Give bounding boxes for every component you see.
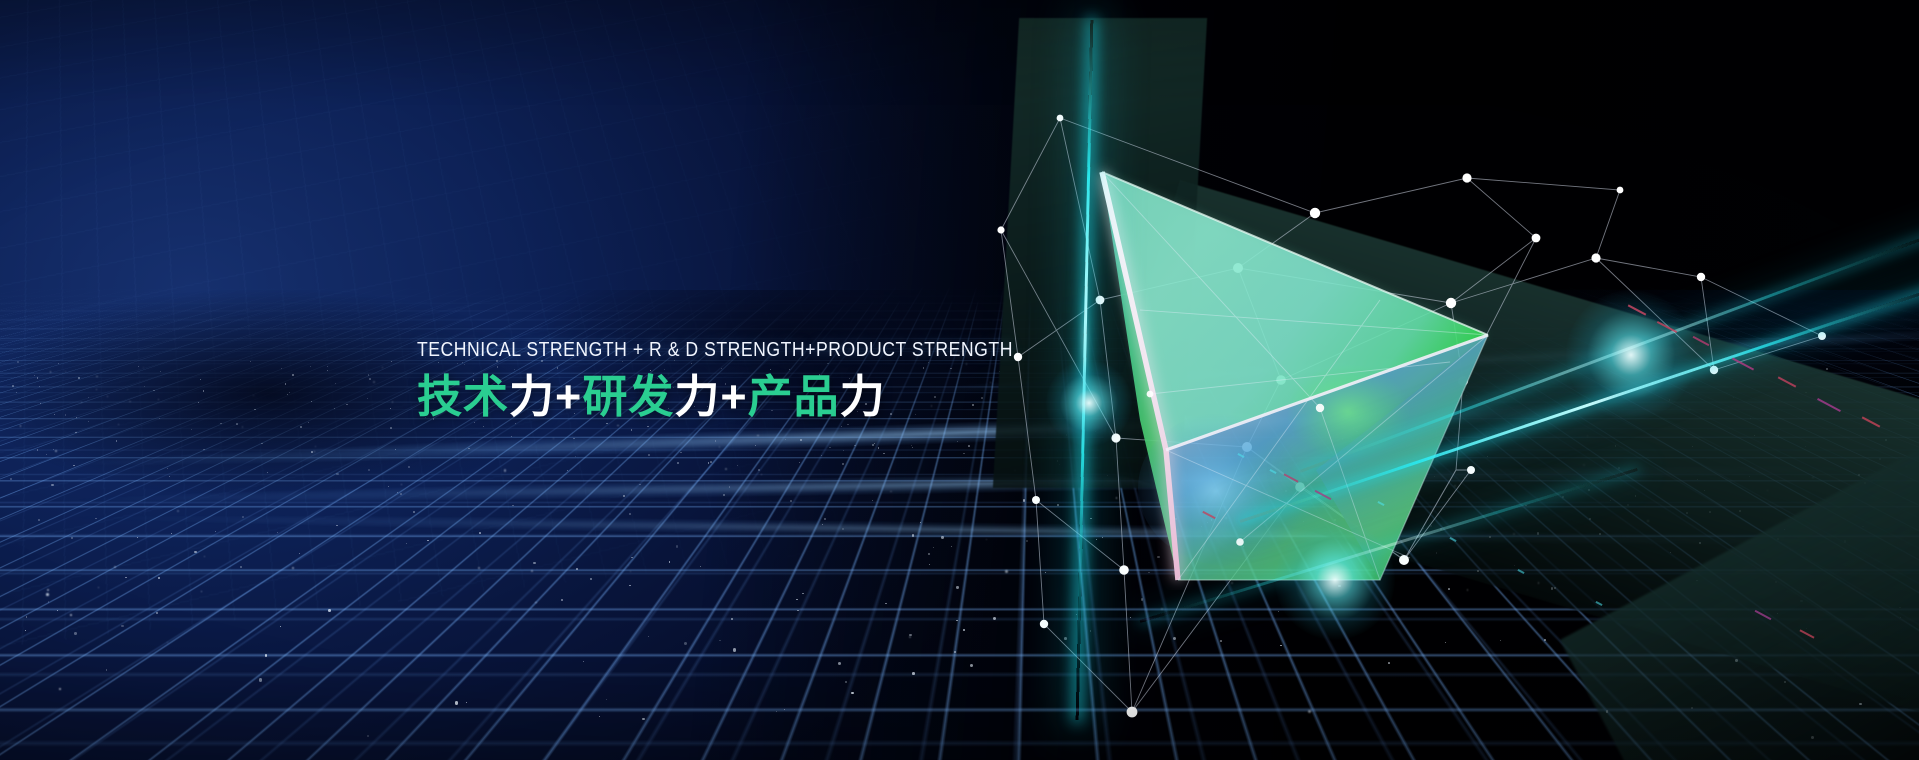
headline-cn-seg-6: 产品 [748,371,840,422]
prism-play-arrow-graphic [1080,150,1500,590]
headline-english: TECHNICAL STRENGTH + R & D STRENGTH+PROD… [417,338,1013,363]
hero-banner: TECHNICAL STRENGTH + R & D STRENGTH+PROD… [0,0,1919,760]
headline-cn-seg-5: + [720,371,747,422]
headline-cn-seg-1: 力 [509,371,555,422]
headline-cn-seg-4: 力 [674,371,720,422]
headline-cn-seg-2: + [555,371,582,422]
headline-cn-seg-0: 技术 [417,371,509,422]
headline-chinese: 技术力+研发力+产品力 [417,370,1110,425]
headline-cn-seg-7: 力 [840,371,886,422]
headline-block: TECHNICAL STRENGTH + R & D STRENGTH+PROD… [417,338,1110,424]
headline-cn-seg-3: 研发 [582,371,674,422]
